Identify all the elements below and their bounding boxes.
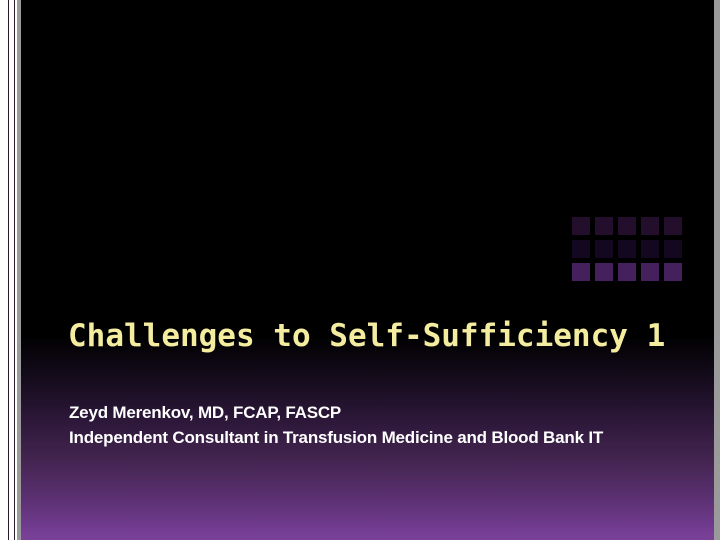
margin-rule-outer [8,0,9,540]
deco-square [618,240,636,258]
slide-subtitle: Zeyd Merenkov, MD, FCAP, FASCP Independe… [69,400,699,450]
slide-title: Challenges to Self-Sufficiency 1 [68,316,708,356]
slide-subtitle-line-author: Zeyd Merenkov, MD, FCAP, FASCP [69,400,699,425]
deco-square [664,263,682,281]
deco-square [595,240,613,258]
deco-square [641,217,659,235]
deco-square [664,240,682,258]
deco-square [572,240,590,258]
square-grid-decoration-icon [572,217,682,281]
deco-square [641,240,659,258]
deco-square [595,263,613,281]
slide-edge-rule-right [714,0,720,540]
presentation-slide: Challenges to Self-Sufficiency 1 Zeyd Me… [21,0,714,540]
deco-square [618,263,636,281]
margin-rule-inner [14,0,15,540]
deco-square [595,217,613,235]
deco-square [664,217,682,235]
slide-viewport: Challenges to Self-Sufficiency 1 Zeyd Me… [0,0,720,540]
deco-square [572,217,590,235]
deco-square [572,263,590,281]
deco-square [641,263,659,281]
deco-square [618,217,636,235]
slide-subtitle-line-affiliation: Independent Consultant in Transfusion Me… [69,425,699,450]
